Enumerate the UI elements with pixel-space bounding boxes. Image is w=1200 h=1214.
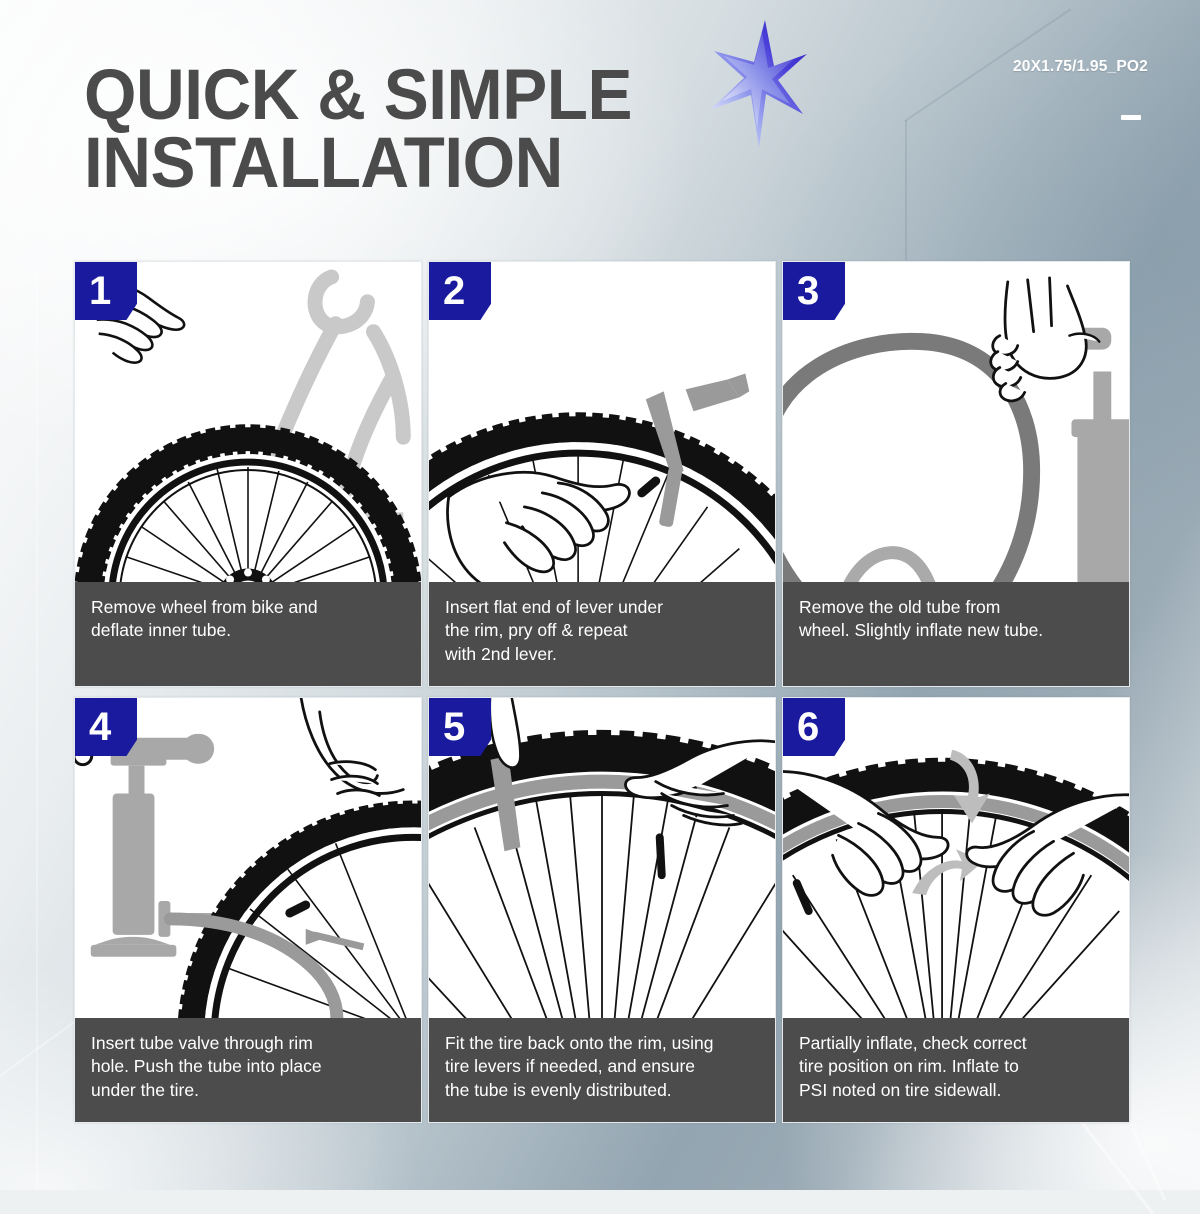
step-badge-3: 3 [783, 262, 845, 320]
step-badge-6: 6 [783, 698, 845, 756]
step-caption-4: Insert tube valve through rim hole. Push… [75, 1018, 421, 1122]
step-caption-5: Fit the tire back onto the rim, using ti… [429, 1018, 775, 1122]
step-badge-4: 4 [75, 698, 137, 756]
page-title: QUICK & SIMPLE INSTALLATION [84, 62, 632, 198]
step-badge-5: 5 [429, 698, 491, 756]
step-badge-1: 1 [75, 262, 137, 320]
star-icon [704, 18, 808, 150]
step-panel-6: 6 Partially inflate, check correct tire … [782, 697, 1130, 1123]
step-panel-3: 3 Remove the old tube from wheel. Slight… [782, 261, 1130, 687]
step-panel-2: 2 Insert flat end of lever under the rim… [428, 261, 776, 687]
step-caption-3: Remove the old tube from wheel. Slightly… [783, 582, 1129, 686]
steps-grid: 1 Remove wheel from bike and deflate inn… [74, 261, 1130, 1123]
step-caption-1: Remove wheel from bike and deflate inner… [75, 582, 421, 686]
sku-label: 20X1.75/1.95_PO2 [1013, 58, 1148, 76]
step-badge-2: 2 [429, 262, 491, 320]
step-caption-2: Insert flat end of lever under the rim, … [429, 582, 775, 686]
step-panel-1: 1 Remove wheel from bike and deflate inn… [74, 261, 422, 687]
dash-mark-icon [1121, 115, 1141, 120]
header: QUICK & SIMPLE INSTALLATION 20X1.75/1.95… [0, 0, 1200, 250]
step-panel-4: 4 Insert tube valve through rim hole. Pu… [74, 697, 422, 1123]
step-panel-5: 5 Fit the tire back onto the rim, using … [428, 697, 776, 1123]
step-caption-6: Partially inflate, check correct tire po… [783, 1018, 1129, 1122]
